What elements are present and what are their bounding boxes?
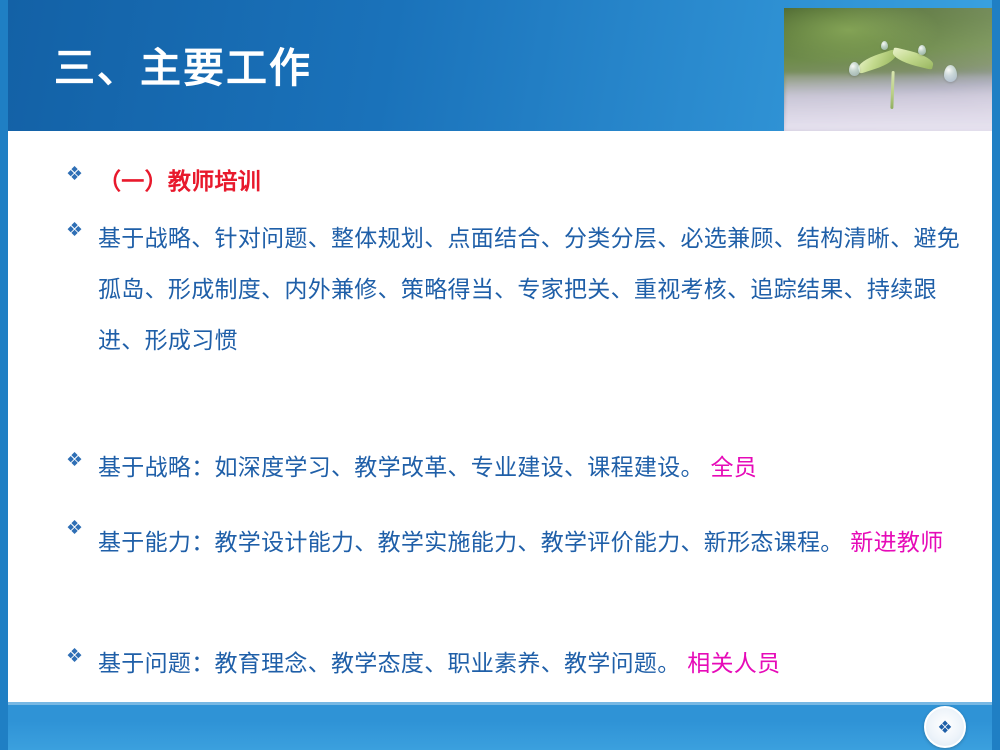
diamond-bullet-icon: ❖ — [66, 443, 92, 479]
bullet-text-strategy: 基于战略：如深度学习、教学改革、专业建设、课程建设。 全员 — [98, 443, 757, 491]
bullet-segment-blue: 基于战略：如深度学习、教学改革、专业建设、课程建设。 — [98, 454, 704, 480]
list-item-strategy: ❖ 基于战略：如深度学习、教学改革、专业建设、课程建设。 全员 — [66, 443, 986, 491]
photo-highlight — [784, 8, 1000, 131]
diamond-bullet-icon: ❖ — [66, 511, 92, 547]
slide-header: 三、主要工作 — [8, 0, 1000, 131]
diamond-bullet-icon: ❖ — [66, 157, 92, 193]
organization-logo: ❖ — [924, 706, 966, 748]
list-item-principles: ❖ 基于战略、针对问题、整体规划、点面结合、分类分层、必选兼顾、结构清晰、避免孤… — [66, 213, 966, 366]
bullet-segment-blue: 基于问题：教育理念、教学态度、职业素养、教学问题。 — [98, 650, 681, 676]
bullet-segment-blue: 基于战略、针对问题、整体规划、点面结合、分类分层、必选兼顾、结构清晰、避免孤岛、… — [98, 225, 960, 353]
bullet-segment-red: （一）教师培训 — [98, 168, 261, 194]
diamond-bullet-icon: ❖ — [66, 639, 92, 675]
list-item-ability: ❖ 基于能力：教学设计能力、教学实施能力、教学评价能力、新形态课程。 新进教师 — [66, 511, 986, 573]
bullet-text-ability: 基于能力：教学设计能力、教学实施能力、教学评价能力、新形态课程。 新进教师 — [98, 511, 944, 573]
footer-divider — [8, 702, 1000, 705]
sprout-photo — [784, 8, 1000, 131]
bullet-segment-highlight: 相关人员 — [681, 650, 781, 676]
bullet-segment-blue: 基于能力：教学设计能力、教学实施能力、教学评价能力、新形态课程。 — [98, 529, 844, 555]
slide-footer: ❖ — [8, 702, 1000, 750]
bullet-segment-highlight: 新进教师 — [844, 529, 944, 555]
slide: 三、主要工作 ❖ （一）教师培训 ❖ 基于战略、针对问题、整体规划、点面结合、分… — [0, 0, 1000, 750]
bullet-text-problem: 基于问题：教育理念、教学态度、职业素养、教学问题。 相关人员 — [98, 639, 780, 687]
logo-glyph-icon: ❖ — [937, 719, 952, 736]
diamond-bullet-icon: ❖ — [66, 213, 92, 249]
slide-body: ❖ （一）教师培训 ❖ 基于战略、针对问题、整体规划、点面结合、分类分层、必选兼… — [8, 131, 1000, 702]
list-item-problem: ❖ 基于问题：教育理念、教学态度、职业素养、教学问题。 相关人员 — [66, 639, 986, 687]
bullet-text-section-heading: （一）教师培训 — [98, 157, 261, 205]
bullet-text-principles: 基于战略、针对问题、整体规划、点面结合、分类分层、必选兼顾、结构清晰、避免孤岛、… — [98, 213, 966, 366]
page-title: 三、主要工作 — [54, 44, 312, 92]
bullet-segment-highlight: 全员 — [704, 454, 757, 480]
list-item-section-heading: ❖ （一）教师培训 — [66, 157, 966, 205]
